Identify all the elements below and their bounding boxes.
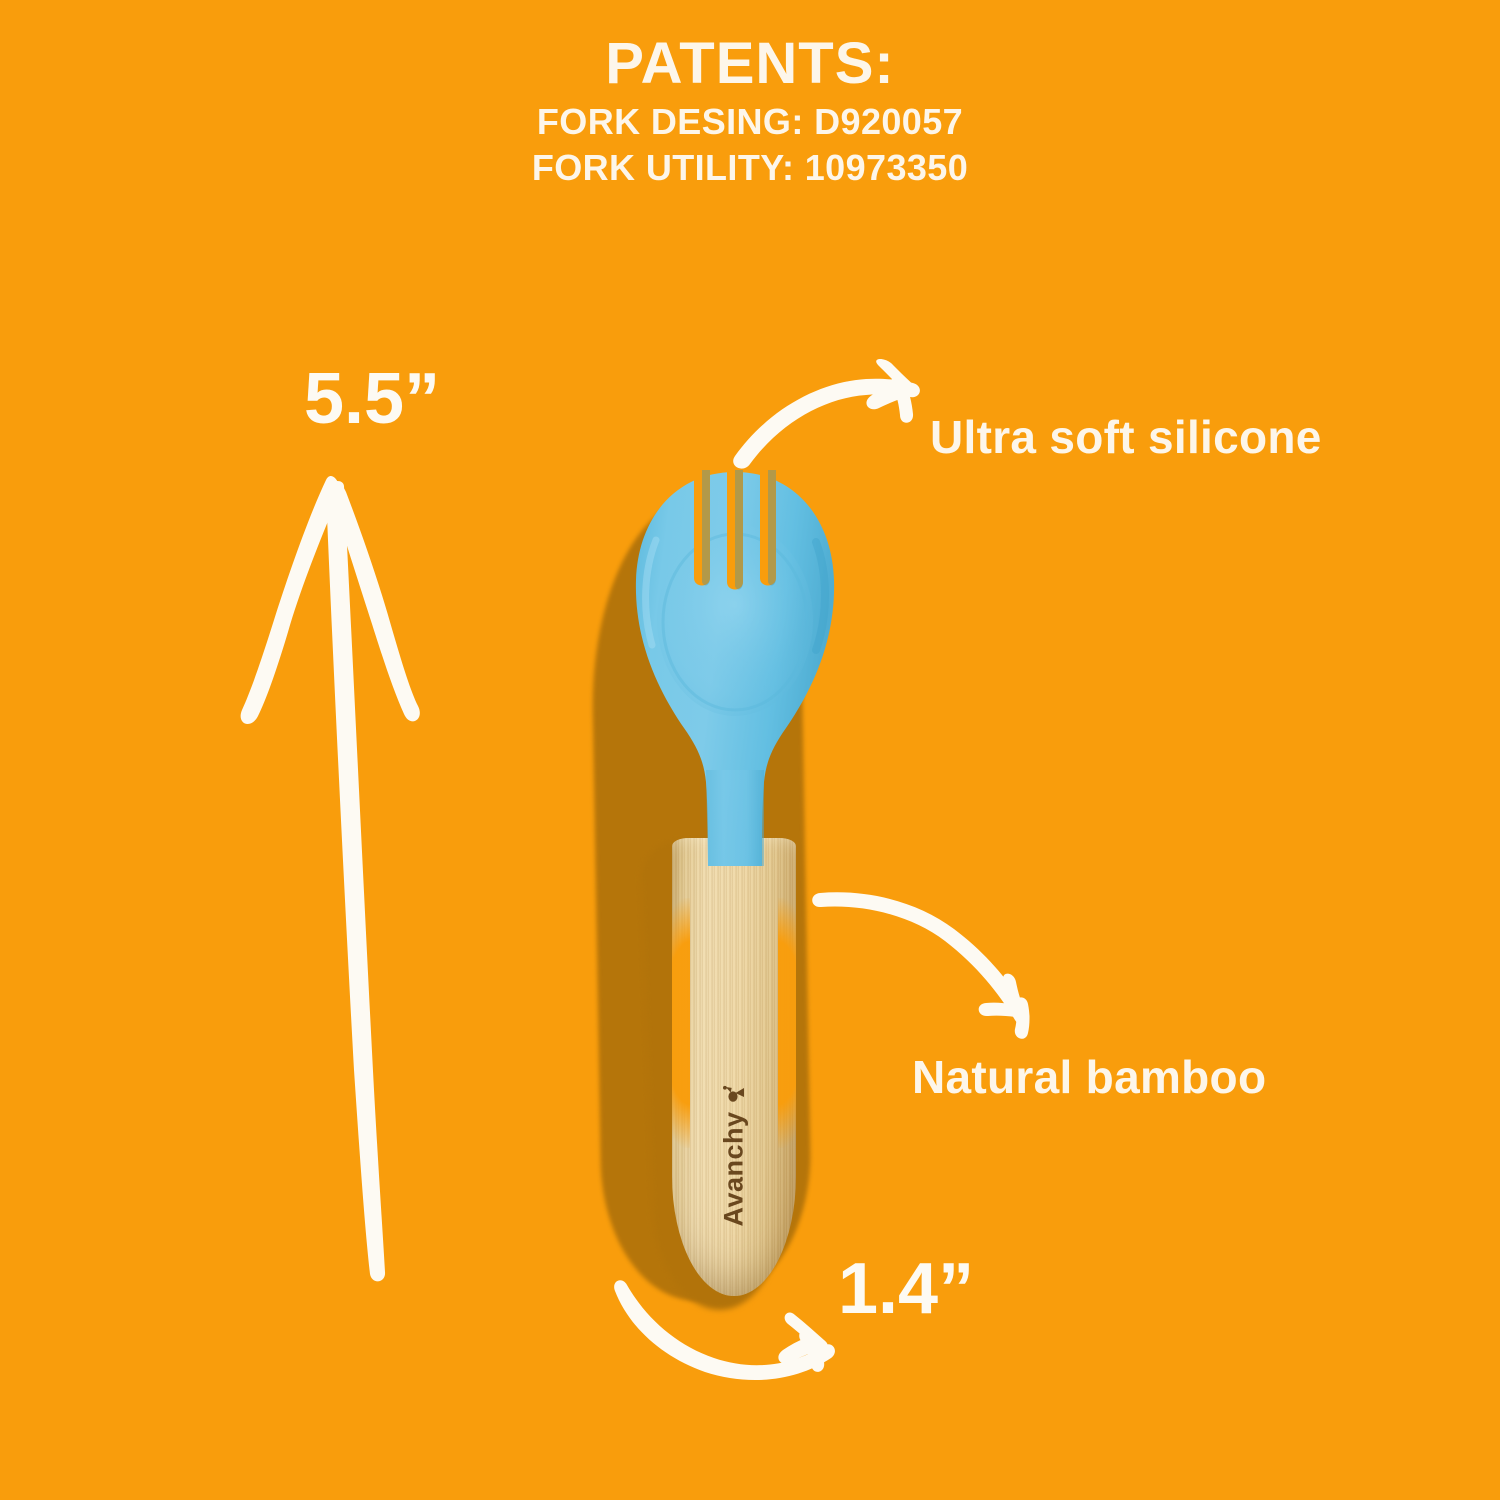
avanchy-bird-icon xyxy=(721,1080,747,1106)
dimension-width-value: 1.4” xyxy=(838,1248,974,1330)
product-infographic: PATENTS: FORK DESING: D920057 FORK UTILI… xyxy=(0,0,1500,1500)
bamboo-handle: Avanchy xyxy=(672,838,796,1296)
callout-label-natural-bamboo: Natural bamboo xyxy=(912,1050,1266,1104)
avanchy-logo: Avanchy xyxy=(719,1080,750,1226)
callout-label-ultra-soft-silicone: Ultra soft silicone xyxy=(930,410,1322,464)
avanchy-logo-text: Avanchy xyxy=(719,1111,750,1226)
handle-edge-shade xyxy=(778,898,796,1148)
product-image: Avanchy xyxy=(0,0,1500,1500)
fork-tine-slots xyxy=(694,470,776,590)
dimension-height-value: 5.5” xyxy=(304,358,440,440)
silicone-fork-head xyxy=(626,470,844,870)
